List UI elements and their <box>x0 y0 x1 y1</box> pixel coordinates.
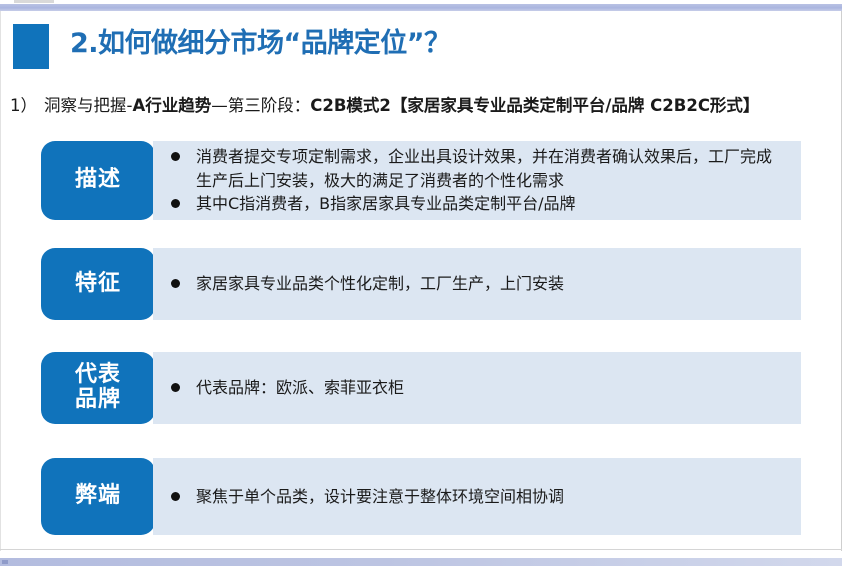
bullet-dot-icon <box>171 383 180 392</box>
list-item-text: 代表品牌：欧派、索菲亚衣柜 <box>196 376 787 399</box>
list-item: 消费者提交专项定制需求，企业出具设计效果，并在消费者确认效果后，工厂完成生产后上… <box>171 145 787 192</box>
page-bottom-rule <box>0 549 842 550</box>
slide-title-block: 2.如何做细分市场“品牌定位”？ <box>0 20 842 76</box>
list-item-text: 聚焦于单个品类，设计要注意于整体环境空间相协调 <box>196 485 787 508</box>
bullet-dot-icon <box>171 279 180 288</box>
list-item-text: 消费者提交专项定制需求，企业出具设计效果，并在消费者确认效果后，工厂完成生产后上… <box>196 145 787 192</box>
row-label-pill[interactable]: 代表 品牌 <box>41 352 155 424</box>
row-content-panel: 消费者提交专项定制需求，企业出具设计效果，并在消费者确认效果后，工厂完成生产后上… <box>153 141 801 220</box>
row-label-text: 弊端 <box>75 484 121 509</box>
title-accent-square <box>13 24 49 69</box>
horizontal-scrollbar-bottom[interactable] <box>0 558 842 566</box>
slide-viewport: 2.如何做细分市场“品牌定位”？ 1）洞察与把握-A行业趋势—第三阶段：C2B模… <box>0 0 842 572</box>
row-label-text: 描述 <box>75 168 121 193</box>
content-row: 特征 家居家具专业品类个性化定制，工厂生产，上门安装 <box>0 248 842 320</box>
row-label-pill[interactable]: 特征 <box>41 248 155 320</box>
window-top-strip <box>14 0 54 3</box>
list-item-text: 家居家具专业品类个性化定制，工厂生产，上门安装 <box>196 272 787 295</box>
row-label-text: 代表 <box>75 363 121 388</box>
content-row: 描述 消费者提交专项定制需求，企业出具设计效果，并在消费者确认效果后，工厂完成生… <box>0 141 842 221</box>
bullet-dot-icon <box>171 152 180 161</box>
list-item: 家居家具专业品类个性化定制，工厂生产，上门安装 <box>171 272 787 295</box>
row-content-panel: 代表品牌：欧派、索菲亚衣柜 <box>153 352 801 424</box>
page-title: 2.如何做细分市场“品牌定位”？ <box>70 22 451 66</box>
content-row: 弊端 聚焦于单个品类，设计要注意于整体环境空间相协调 <box>0 458 842 535</box>
subtitle-bracket-text: 【家居家具专业品类定制平台/品牌 C2B2C形式】 <box>391 96 760 115</box>
list-item: 聚焦于单个品类，设计要注意于整体环境空间相协调 <box>171 485 787 508</box>
subtitle-plain-1: 洞察与把握- <box>44 96 132 115</box>
bullet-dot-icon <box>171 492 180 501</box>
row-content-panel: 家居家具专业品类个性化定制，工厂生产，上门安装 <box>153 248 801 320</box>
row-label-text: 特征 <box>75 272 121 297</box>
content-row: 代表 品牌 代表品牌：欧派、索菲亚衣柜 <box>0 352 842 424</box>
subtitle-bold-1: A行业趋势 <box>132 96 211 115</box>
row-label-pill[interactable]: 弊端 <box>41 458 155 535</box>
scrollbar-corner <box>2 560 8 564</box>
list-item-text: 其中C指消费者，B指家居家具专业品类定制平台/品牌 <box>196 192 787 215</box>
row-content-panel: 聚焦于单个品类，设计要注意于整体环境空间相协调 <box>153 458 801 535</box>
row-label-pill[interactable]: 描述 <box>41 141 155 220</box>
subtitle-marker: 1） <box>10 96 37 115</box>
row-label-text: 品牌 <box>75 388 121 413</box>
subtitle-plain-2: —第三阶段： <box>211 96 310 115</box>
horizontal-scrollbar-top[interactable] <box>0 4 842 11</box>
subtitle-line: 1）洞察与把握-A行业趋势—第三阶段：C2B模式2【家居家具专业品类定制平台/品… <box>10 94 840 118</box>
bullet-dot-icon <box>171 199 180 208</box>
list-item: 其中C指消费者，B指家居家具专业品类定制平台/品牌 <box>171 192 787 215</box>
subtitle-bold-2: C2B模式2 <box>310 96 391 115</box>
list-item: 代表品牌：欧派、索菲亚衣柜 <box>171 376 787 399</box>
